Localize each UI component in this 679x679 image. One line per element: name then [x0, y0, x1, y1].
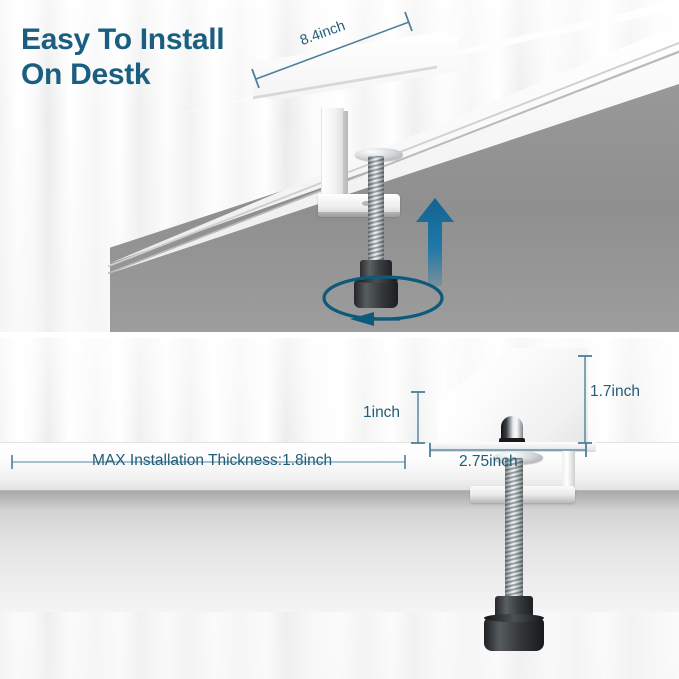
page-title: Easy To Install On Destk [21, 22, 224, 93]
panel-divider [0, 332, 679, 338]
panel-clamp-dimensions [0, 338, 679, 679]
threaded-screw-shaft [368, 156, 384, 266]
adjustment-knob-bottom [484, 618, 544, 651]
clamp-vertical-plate [321, 108, 344, 194]
infographic-canvas: 8.4inch [0, 0, 679, 679]
dimension-label-1-7-inch: 1.7inch [590, 383, 640, 401]
clamp-plate-side-face [343, 111, 348, 197]
desk-drop-shadow [0, 490, 679, 510]
rotation-arrow-icon [318, 272, 448, 328]
dimension-label-2-75-inch: 2.75inch [459, 453, 518, 471]
panel-installation-perspective: 8.4inch [0, 0, 679, 332]
clamp-arm-underside [318, 212, 400, 217]
threaded-screw-shaft-bottom [505, 458, 523, 603]
dimension-label-1-inch: 1inch [363, 404, 400, 422]
dimension-label-max-thickness: MAX Installation Thickness:1.8inch [92, 452, 332, 470]
